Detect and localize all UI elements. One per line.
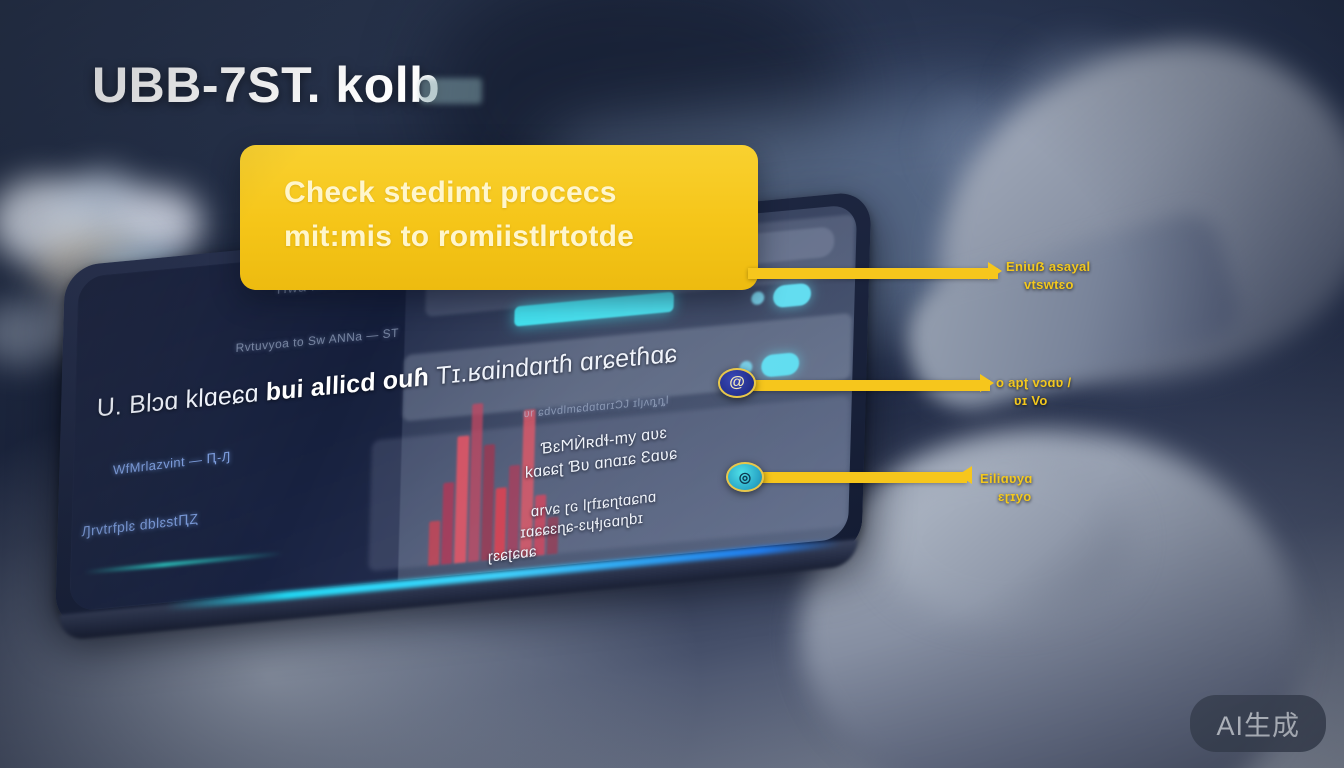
leader-arrow-1-icon [988,262,1002,280]
badge-glyph-2: @ [729,375,745,391]
annotation-1-line-2: vtswtɛo [1006,276,1090,294]
link-badge-icon: @ [718,368,756,398]
leader-arrow-2-icon [980,374,994,392]
callout-line-2: mit:mis to romiistlrtotde [284,215,714,259]
ai-generated-watermark: AI生成 [1190,695,1326,752]
leader-line-3 [752,472,967,483]
title-smudge [420,78,482,104]
leader-line-1 [748,268,998,279]
annotation-3-line-1: Eiliɑʋyɑ [980,471,1033,486]
callout-line-1: Check stedimt procecs [284,171,714,215]
annotation-label-2: o apʈ vɔɑʋ / ʋɪ Vo [996,374,1071,409]
annotation-1-line-1: Eniuẞ asayal [1006,259,1090,274]
leader-arrow-3-icon [958,466,972,484]
leader-line-2 [745,380,990,391]
callout-box: Check stedimt procecs mit:mis to romiist… [240,145,758,290]
annotation-overlay: UBB-7ST. kolb Check stedimt procecs mit:… [0,0,1344,768]
image-canvas: Hwa Rnona Rvtuvyoa to Sw ANNa — ST COV N… [0,0,1344,768]
annotation-label-3: Eiliɑʋyɑ ɛɽɪyo [980,470,1033,505]
annotation-label-1: Eniuẞ asayal vtswtɛo [1006,258,1090,293]
page-title: UBB-7ST. kolb [92,56,440,114]
annotation-2-line-2: ʋɪ Vo [996,392,1071,410]
badge-glyph-3: ◎ [739,470,751,484]
annotation-2-line-1: o apʈ vɔɑʋ / [996,375,1071,390]
annotation-3-line-2: ɛɽɪyo [980,488,1033,506]
globe-badge-icon: ◎ [726,462,764,492]
